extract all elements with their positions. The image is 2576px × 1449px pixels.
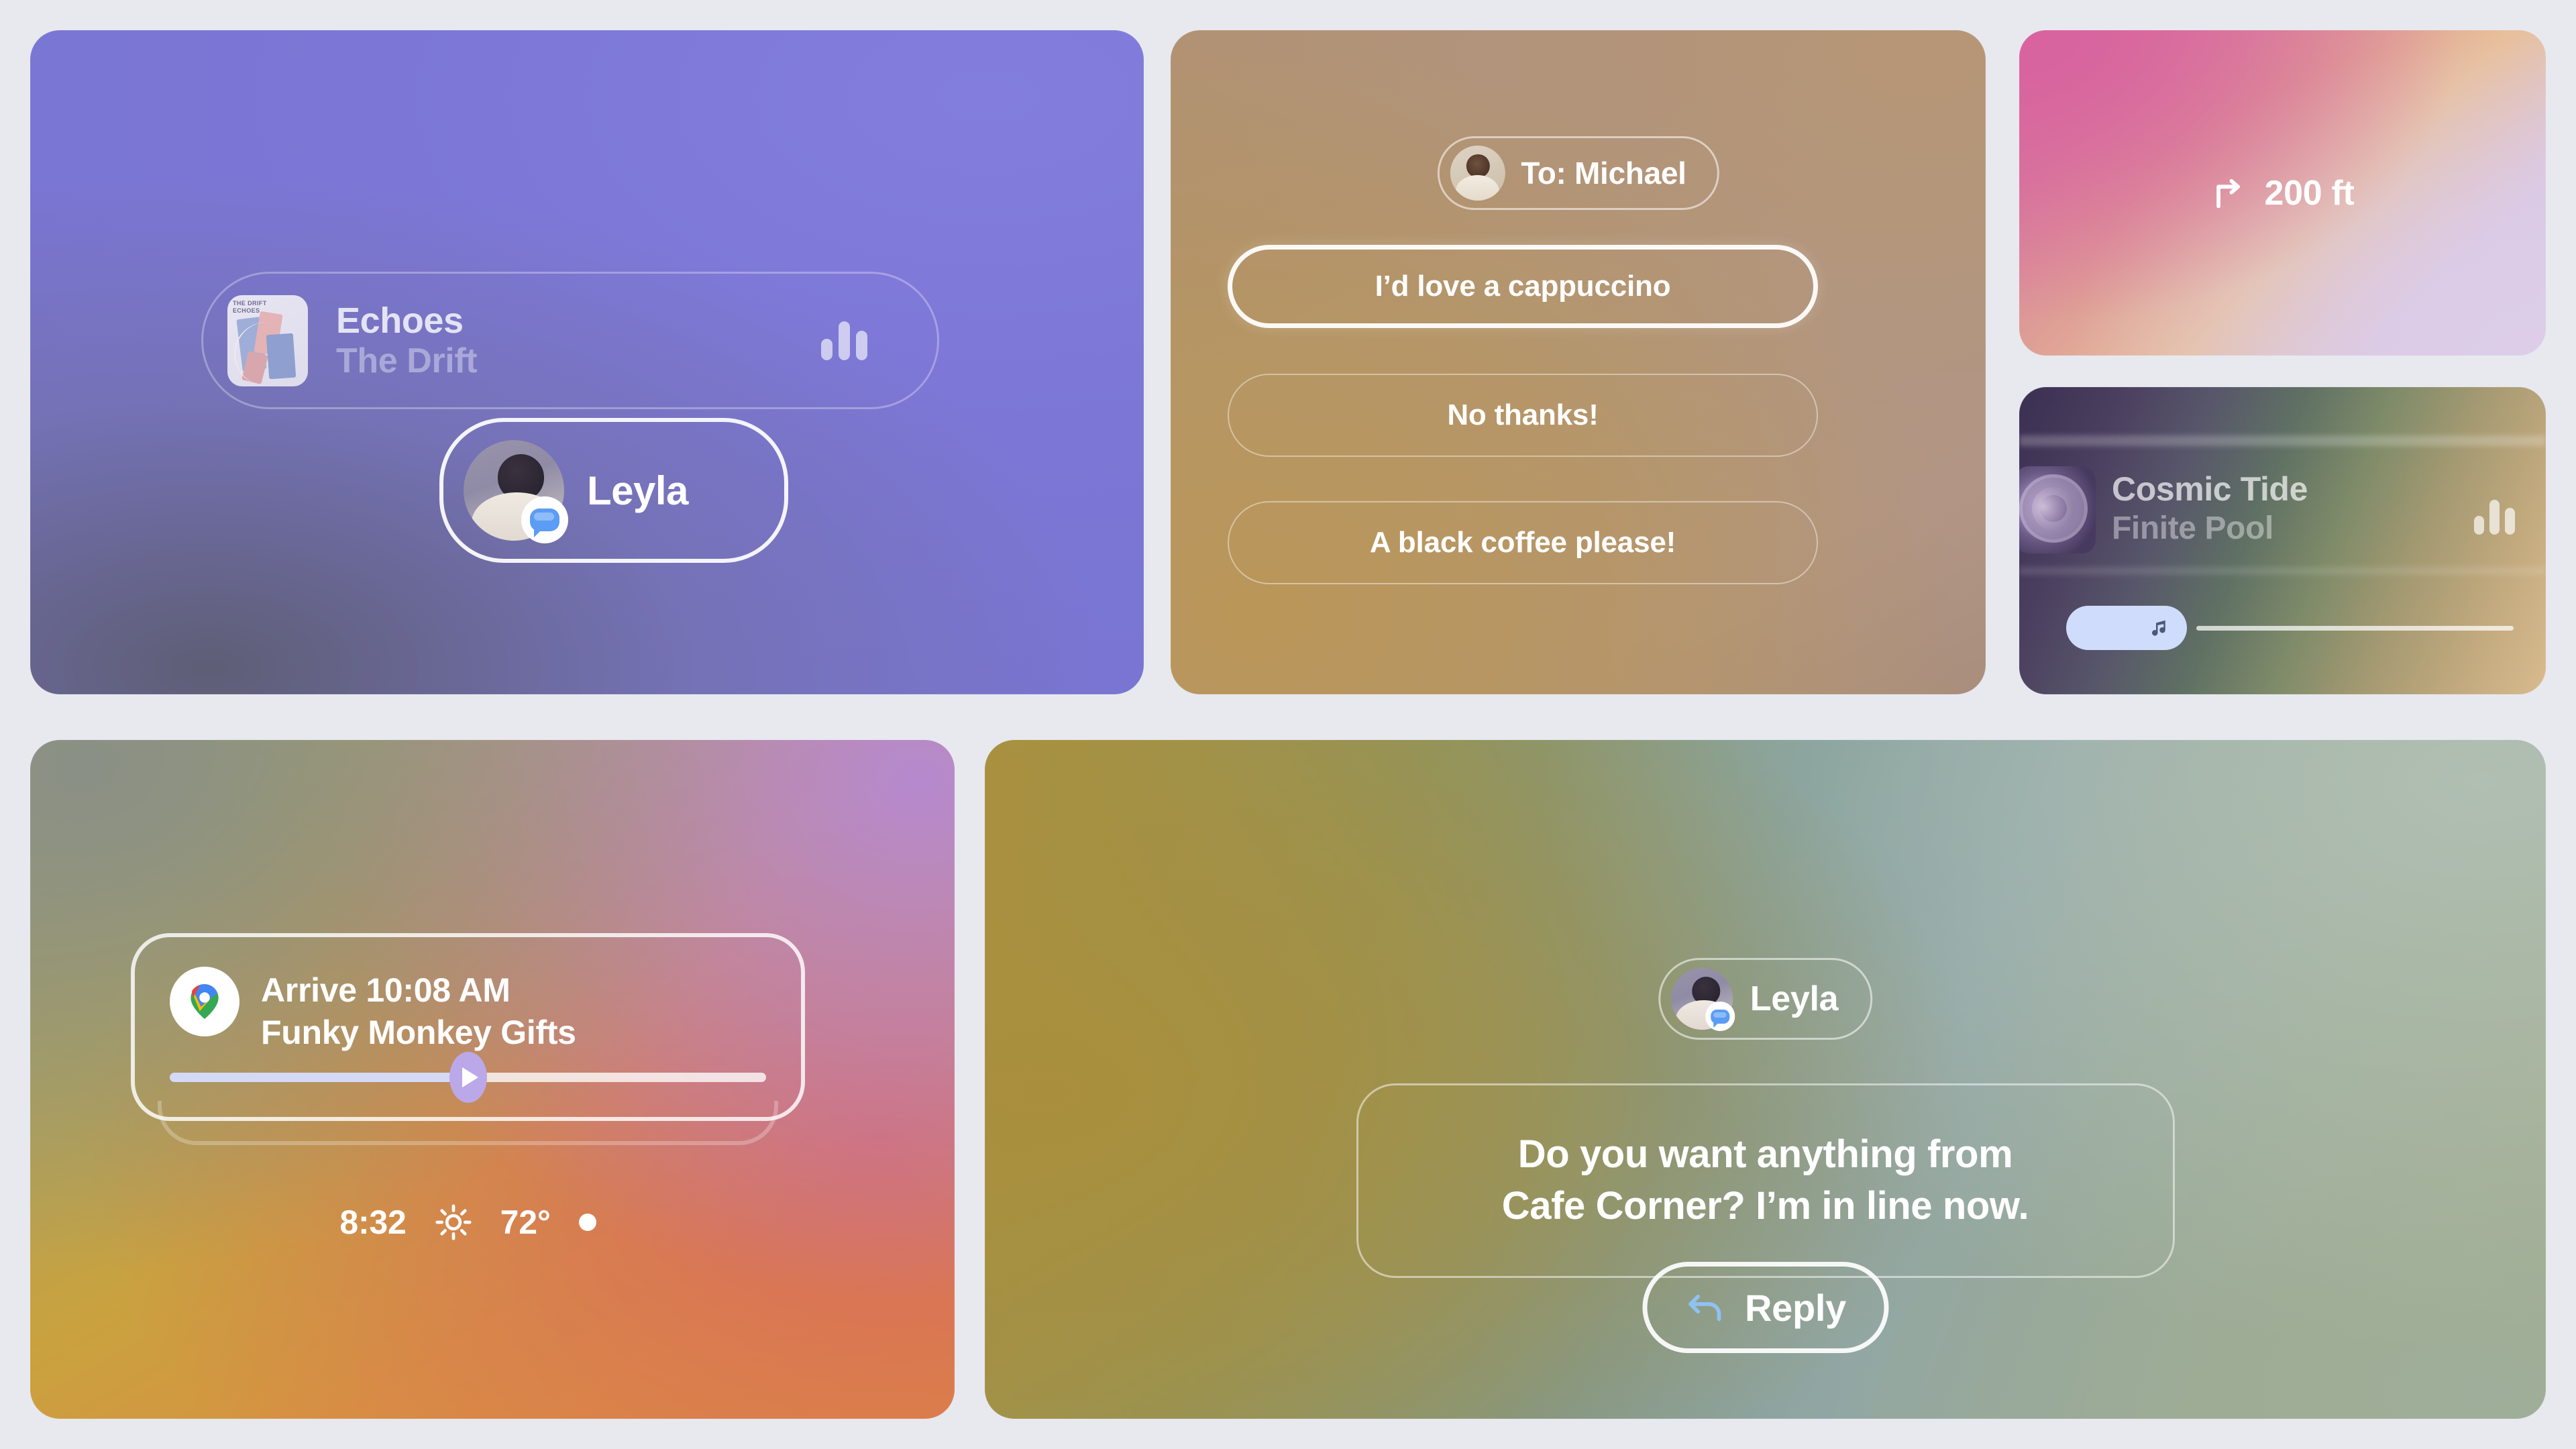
status-time: 8:32 <box>339 1203 406 1242</box>
incoming-message-card[interactable]: Leyla Do you want anything from Cafe Cor… <box>985 740 2546 1419</box>
arrival-card[interactable]: Arrive 10:08 AM Funky Monkey Gifts 8:32 … <box>30 740 955 1419</box>
sender-name: Leyla <box>1750 979 1838 1019</box>
message-line-1: Do you want anything from <box>1518 1132 2013 1176</box>
google-maps-pin-icon <box>170 967 239 1036</box>
now-playing-pill[interactable]: THE DRIFTECHOES Echoes The Drift <box>201 272 939 409</box>
sender-pill[interactable]: Leyla <box>1658 958 1872 1040</box>
music-note-icon <box>2149 615 2169 641</box>
arrival-progress-bar[interactable] <box>170 1073 766 1082</box>
messages-bubble-icon <box>1705 1002 1735 1031</box>
album-art-line2: ECHOES <box>233 307 260 314</box>
arrival-eta: Arrive 10:08 AM <box>261 969 576 1012</box>
cosmic-meta: Cosmic Tide Finite Pool <box>2112 469 2308 548</box>
contact-pill-leyla[interactable]: Leyla <box>439 418 788 563</box>
message-bubble: Do you want anything from Cafe Corner? I… <box>1356 1083 2175 1278</box>
status-row: 8:32 72° <box>131 1203 805 1242</box>
sheen-divider-mid <box>2019 567 2546 575</box>
navigation-maneuver: 200 ft <box>2019 173 2546 213</box>
recipient-label: To: Michael <box>1521 155 1686 191</box>
suggestion-option-0[interactable]: I’d love a cappuccino <box>1228 245 1818 328</box>
suggestion-option-2[interactable]: A black coffee please! <box>1228 501 1818 584</box>
scrubber-track[interactable] <box>2196 626 2514 631</box>
progress-fill <box>170 1073 468 1082</box>
album-art: THE DRIFTECHOES <box>227 295 308 386</box>
dot-icon <box>579 1214 596 1231</box>
suggestion-option-1[interactable]: No thanks! <box>1228 374 1818 457</box>
arrival-destination: Funky Monkey Gifts <box>261 1012 576 1054</box>
status-temperature: 72° <box>500 1203 551 1242</box>
avatar-leyla <box>464 440 564 541</box>
turn-right-icon <box>2210 174 2249 213</box>
message-line-2: Cafe Corner? I’m in line now. <box>1502 1184 2029 1228</box>
navigation-card[interactable]: 200 ft <box>2019 30 2546 356</box>
now-playing-card[interactable]: THE DRIFTECHOES Echoes The Drift Leyla <box>30 30 1144 694</box>
reply-label: Reply <box>1745 1286 1846 1330</box>
reply-suggestions-card[interactable]: To: Michael I’d love a cappuccino No tha… <box>1171 30 1986 694</box>
cosmic-track-title: Cosmic Tide <box>2112 469 2308 509</box>
reply-arrow-icon <box>1684 1291 1726 1324</box>
scrubber-thumb[interactable] <box>2066 606 2187 650</box>
navigation-distance: 200 ft <box>2264 173 2354 213</box>
avatar-michael <box>1450 146 1505 201</box>
sheen-divider-top <box>2019 435 2546 446</box>
dashboard-canvas: THE DRIFTECHOES Echoes The Drift Leyla T… <box>0 0 2576 1449</box>
cosmic-album-art <box>2019 466 2096 553</box>
cosmic-scrubber[interactable] <box>2066 606 2514 650</box>
equalizer-icon <box>2474 500 2515 535</box>
contact-name: Leyla <box>587 468 688 514</box>
equalizer-icon <box>821 321 867 360</box>
avatar-leyla <box>1671 968 1733 1030</box>
arrival-pill[interactable]: Arrive 10:08 AM Funky Monkey Gifts <box>131 933 805 1121</box>
messages-bubble-icon <box>521 496 568 543</box>
progress-remaining <box>468 1073 767 1082</box>
recipient-pill[interactable]: To: Michael <box>1437 136 1719 210</box>
cosmic-track-artist: Finite Pool <box>2112 509 2308 548</box>
reply-button[interactable]: Reply <box>1642 1262 1888 1353</box>
play-triangle-icon[interactable] <box>449 1052 487 1103</box>
album-art-line1: THE DRIFT <box>233 300 267 307</box>
cosmic-player-card[interactable]: Cosmic Tide Finite Pool <box>2019 387 2546 694</box>
sun-icon <box>435 1203 472 1241</box>
maps-pin-glyph <box>184 981 225 1022</box>
